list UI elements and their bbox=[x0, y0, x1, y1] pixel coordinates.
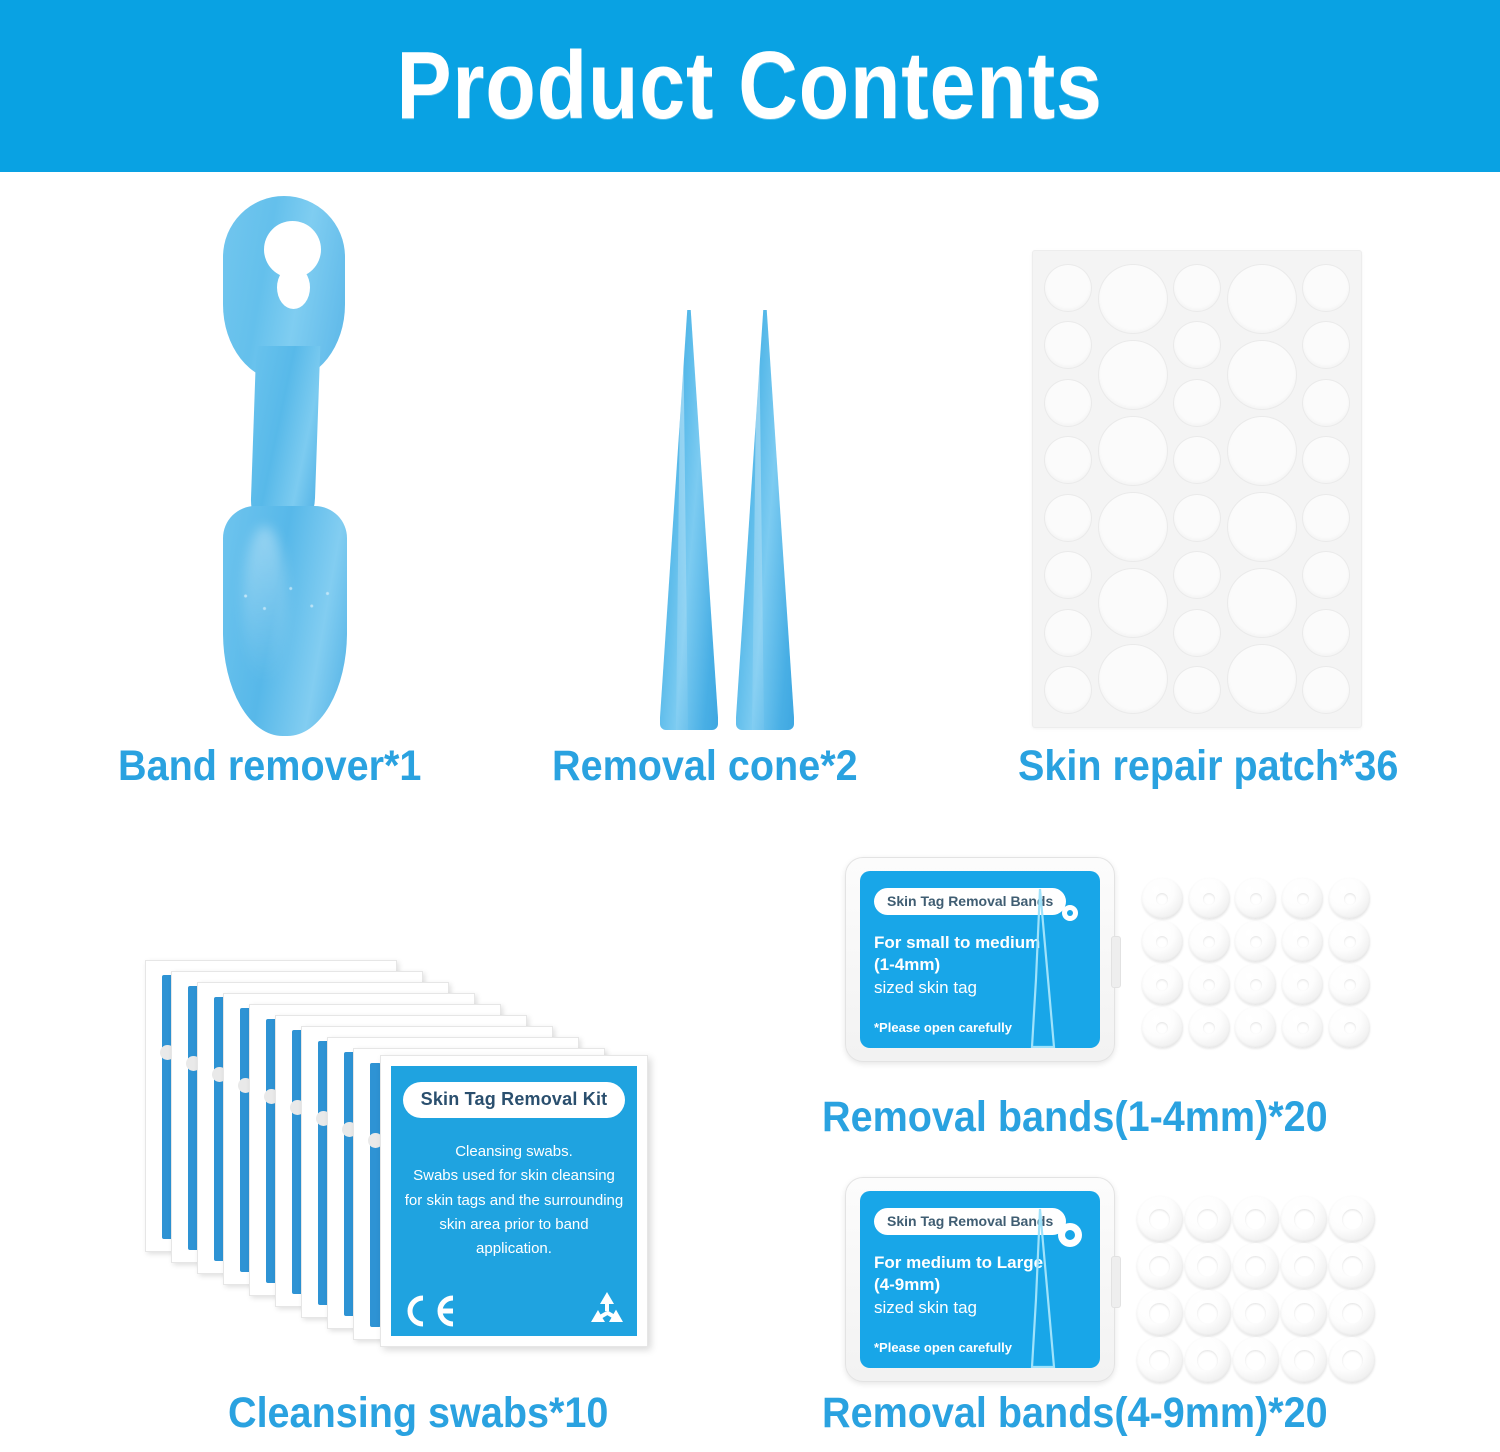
removal-band-ring bbox=[1329, 1337, 1375, 1383]
skin-repair-patch-dot bbox=[1045, 265, 1091, 311]
skin-repair-patch-dot bbox=[1045, 437, 1091, 483]
skin-repair-patch-dot bbox=[1174, 552, 1220, 598]
removal-band-ring bbox=[1185, 1290, 1231, 1336]
skin-repair-patch-dot bbox=[1174, 380, 1220, 426]
removal-band-ring bbox=[1282, 921, 1323, 962]
case-latch bbox=[1111, 1256, 1121, 1308]
removal-band-ring bbox=[1185, 1243, 1231, 1289]
removal-band-ring bbox=[1142, 878, 1183, 919]
cone-with-band-icon bbox=[1014, 883, 1086, 1048]
removal-band-ring bbox=[1235, 964, 1276, 1005]
removal-band-ring bbox=[1142, 1007, 1183, 1048]
cone-icon bbox=[736, 310, 794, 730]
swab-packet-label: Skin Tag Removal Kit Cleansing swabs. Sw… bbox=[391, 1066, 637, 1336]
removal-band-ring bbox=[1281, 1337, 1327, 1383]
removal-bands-large-grid bbox=[1136, 1196, 1376, 1378]
skin-repair-patch-dot bbox=[1303, 610, 1349, 656]
removal-band-ring bbox=[1329, 1243, 1375, 1289]
removal-band-ring bbox=[1329, 921, 1370, 962]
caption-band-remover: Band remover*1 bbox=[118, 745, 421, 788]
removal-band-ring bbox=[1137, 1290, 1183, 1336]
removal-band-ring bbox=[1282, 878, 1323, 919]
removal-cones-image bbox=[660, 300, 810, 730]
skin-repair-patch-dot bbox=[1174, 667, 1220, 713]
cone-with-band-icon bbox=[1014, 1203, 1086, 1368]
removal-band-ring bbox=[1329, 964, 1370, 1005]
caption-cleansing-swabs: Cleansing swabs*10 bbox=[228, 1392, 608, 1435]
spatula-small-hole bbox=[277, 266, 310, 309]
skin-repair-patch-dot bbox=[1174, 437, 1220, 483]
skin-repair-patch-dot bbox=[1174, 610, 1220, 656]
skin-repair-patch-dot bbox=[1228, 417, 1296, 485]
band-open-note: *Please open carefully bbox=[874, 1340, 1012, 1355]
swab-body-line: skin area prior to band application. bbox=[403, 1213, 625, 1262]
caption-removal-bands-large: Removal bands(4-9mm)*20 bbox=[822, 1392, 1328, 1435]
skin-repair-patch-dot bbox=[1099, 265, 1167, 333]
cone-icon bbox=[660, 310, 718, 730]
skin-repair-patch-dot bbox=[1228, 569, 1296, 637]
swab-badge: Skin Tag Removal Kit bbox=[403, 1082, 626, 1118]
skin-repair-patch-dot bbox=[1045, 610, 1091, 656]
removal-band-ring bbox=[1329, 878, 1370, 919]
removal-band-ring bbox=[1233, 1196, 1279, 1242]
skin-repair-patch-dot bbox=[1099, 417, 1167, 485]
skin-repair-patch-dot bbox=[1303, 380, 1349, 426]
removal-band-ring bbox=[1282, 1007, 1323, 1048]
skin-repair-patch-dot bbox=[1045, 667, 1091, 713]
skin-repair-patch-dot bbox=[1228, 493, 1296, 561]
swab-body-line: Cleansing swabs. bbox=[403, 1140, 625, 1164]
skin-repair-patch-dot bbox=[1045, 322, 1091, 368]
removal-band-ring bbox=[1185, 1337, 1231, 1383]
removal-band-ring bbox=[1235, 1007, 1276, 1048]
removal-band-ring bbox=[1233, 1243, 1279, 1289]
band-remover-image bbox=[205, 196, 365, 736]
skin-repair-patch-dot bbox=[1303, 495, 1349, 541]
removal-band-ring bbox=[1189, 964, 1230, 1005]
removal-band-ring bbox=[1281, 1196, 1327, 1242]
skin-repair-patch-dot bbox=[1303, 322, 1349, 368]
skin-repair-patch-dot bbox=[1303, 552, 1349, 598]
removal-band-ring bbox=[1137, 1196, 1183, 1242]
skin-repair-patch-dot bbox=[1303, 667, 1349, 713]
patch-column bbox=[1172, 265, 1222, 713]
skin-repair-patch-dot bbox=[1303, 437, 1349, 483]
caption-removal-bands-small: Removal bands(1-4mm)*20 bbox=[822, 1096, 1328, 1139]
skin-repair-patch-dot bbox=[1099, 341, 1167, 409]
skin-repair-patch-dot bbox=[1099, 569, 1167, 637]
ce-mark-icon bbox=[401, 1294, 459, 1328]
cone-highlight bbox=[676, 330, 688, 730]
removal-band-ring bbox=[1233, 1337, 1279, 1383]
case-latch bbox=[1111, 936, 1121, 988]
skin-repair-patch-dot bbox=[1174, 322, 1220, 368]
skin-repair-patch-dot bbox=[1228, 341, 1296, 409]
skin-repair-patch-dot bbox=[1174, 265, 1220, 311]
removal-band-ring bbox=[1282, 964, 1323, 1005]
removal-band-ring bbox=[1142, 964, 1183, 1005]
removal-band-ring bbox=[1137, 1337, 1183, 1383]
skin-repair-patch-sheet bbox=[1032, 250, 1362, 728]
removal-band-ring bbox=[1142, 921, 1183, 962]
removal-band-ring bbox=[1185, 1196, 1231, 1242]
page-title: Product Contents bbox=[397, 38, 1103, 134]
band-open-note: *Please open carefully bbox=[874, 1020, 1012, 1035]
cleansing-swabs-stack: Skin Tag Removal Kit Cleansing swabs. Sw… bbox=[145, 960, 685, 1350]
skin-repair-patch-dot bbox=[1045, 380, 1091, 426]
skin-repair-patch-dot bbox=[1228, 265, 1296, 333]
band-case-label-small: Skin Tag Removal Bands For small to medi… bbox=[860, 871, 1100, 1048]
removal-band-ring bbox=[1329, 1007, 1370, 1048]
removal-band-ring bbox=[1233, 1290, 1279, 1336]
cone-highlight bbox=[752, 330, 764, 730]
removal-band-ring bbox=[1189, 878, 1230, 919]
removal-band-ring bbox=[1189, 921, 1230, 962]
patch-column bbox=[1227, 265, 1297, 713]
removal-band-ring bbox=[1329, 1290, 1375, 1336]
skin-repair-patch-dot bbox=[1174, 495, 1220, 541]
swab-compliance-marks bbox=[401, 1290, 627, 1328]
skin-repair-patch-dot bbox=[1303, 265, 1349, 311]
band-case-label-large: Skin Tag Removal Bands For medium to Lar… bbox=[860, 1191, 1100, 1368]
header-banner: Product Contents bbox=[0, 0, 1500, 172]
product-contents-infographic: Product Contents Band remover*1 Removal … bbox=[0, 0, 1500, 1452]
patch-column bbox=[1301, 265, 1351, 713]
caption-removal-cone: Removal cone*2 bbox=[552, 745, 858, 788]
skin-repair-patch-dot bbox=[1045, 552, 1091, 598]
swab-body-line: for skin tags and the surrounding bbox=[403, 1189, 625, 1213]
removal-band-ring bbox=[1235, 921, 1276, 962]
swab-body-line: Swabs used for skin cleansing bbox=[403, 1164, 625, 1188]
cleansing-swab-packet-front: Skin Tag Removal Kit Cleansing swabs. Sw… bbox=[380, 1055, 648, 1347]
recycling-icon bbox=[587, 1290, 627, 1328]
removal-band-ring bbox=[1281, 1290, 1327, 1336]
removal-band-ring bbox=[1281, 1243, 1327, 1289]
swab-body-text: Cleansing swabs. Swabs used for skin cle… bbox=[403, 1140, 625, 1261]
removal-band-ring bbox=[1189, 1007, 1230, 1048]
spatula-speckle bbox=[233, 576, 338, 626]
removal-band-ring bbox=[1137, 1243, 1183, 1289]
skin-repair-patch-dot bbox=[1099, 645, 1167, 713]
caption-skin-repair-patch: Skin repair patch*36 bbox=[1018, 745, 1398, 788]
patch-column bbox=[1098, 265, 1168, 713]
patch-column bbox=[1043, 265, 1093, 713]
removal-band-ring bbox=[1235, 878, 1276, 919]
skin-repair-patch-dot bbox=[1228, 645, 1296, 713]
skin-repair-patch-dot bbox=[1045, 495, 1091, 541]
skin-repair-patch-dot bbox=[1099, 493, 1167, 561]
band-case-small: Skin Tag Removal Bands For small to medi… bbox=[845, 857, 1115, 1062]
removal-band-ring bbox=[1329, 1196, 1375, 1242]
band-case-large: Skin Tag Removal Bands For medium to Lar… bbox=[845, 1177, 1115, 1382]
removal-bands-small-grid bbox=[1140, 878, 1372, 1046]
